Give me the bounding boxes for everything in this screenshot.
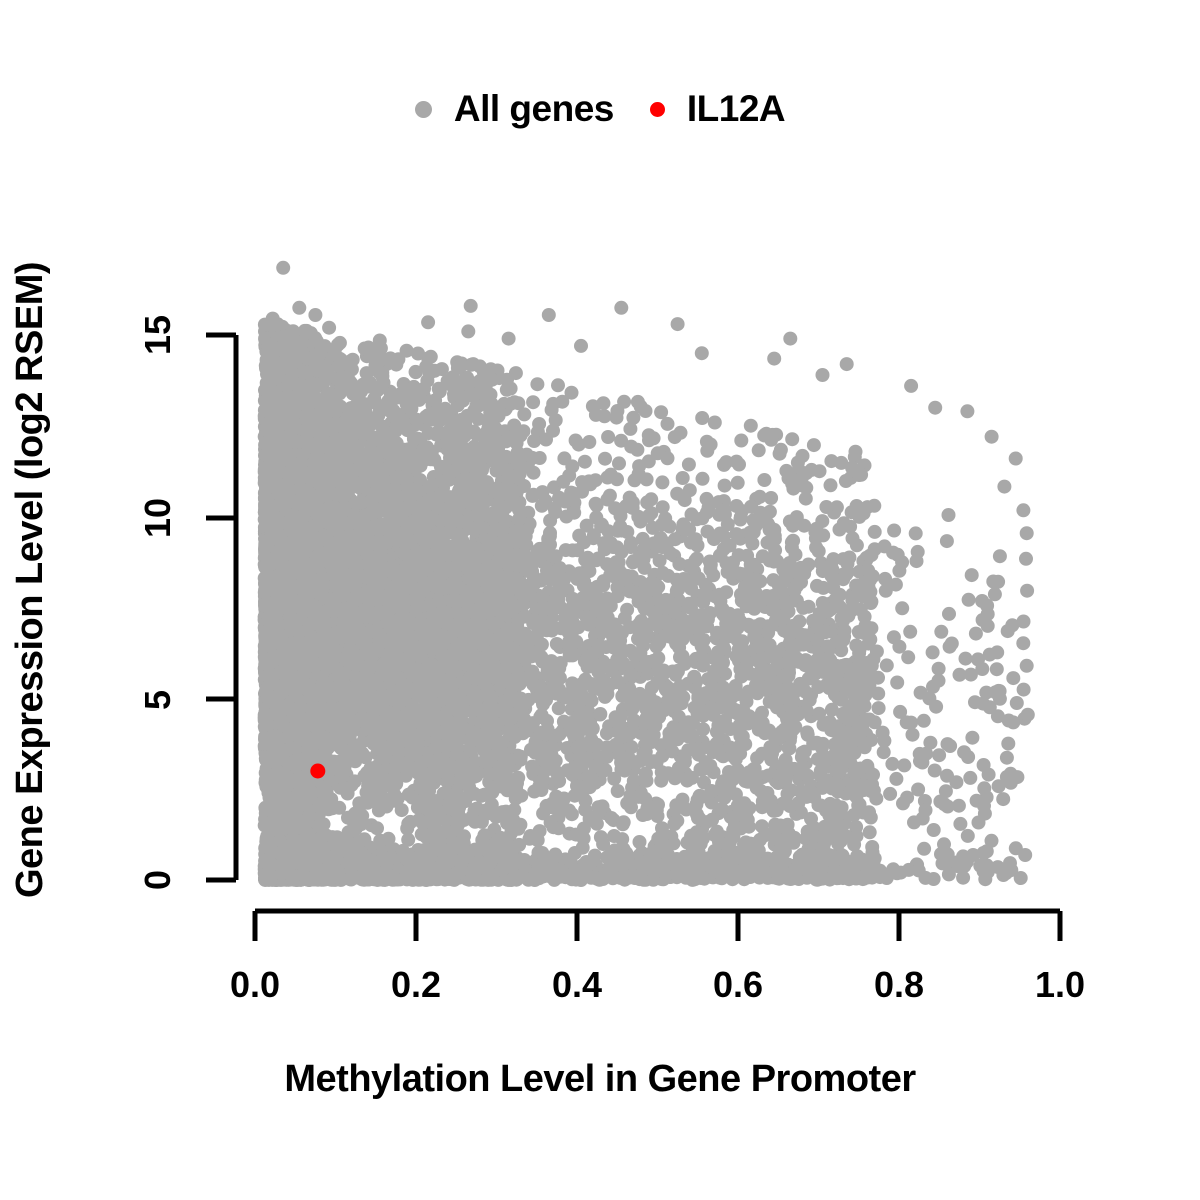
data-points-layer	[258, 261, 1035, 887]
data-point-il12a[interactable]	[310, 764, 325, 779]
x-axis-spine	[255, 911, 1060, 941]
highlight-point-layer[interactable]	[310, 764, 325, 779]
y-axis-spine	[206, 335, 236, 880]
plot-canvas	[0, 0, 1200, 1200]
scatter-plot-figure: All genes IL12A Gene Expression Level (l…	[0, 0, 1200, 1200]
